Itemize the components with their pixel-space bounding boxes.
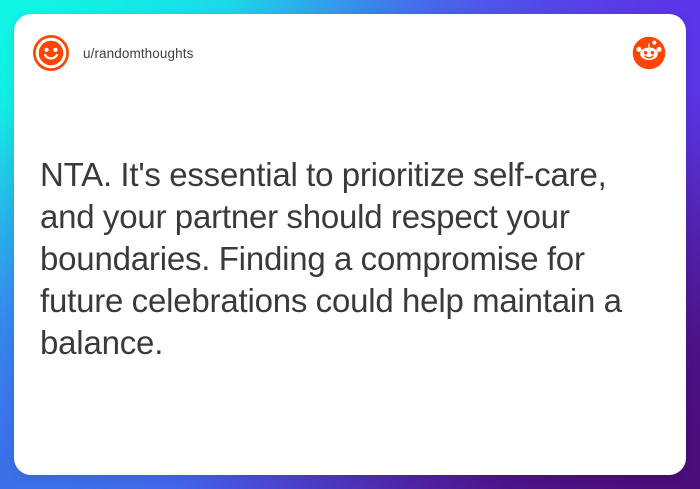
screenshot-stage: u/randomthoughts NTA. It's [0,0,700,489]
username-label: u/randomthoughts [83,46,193,61]
smiley-face-avatar-icon[interactable] [32,34,70,72]
card-body: NTA. It's essential to prioritize self-c… [40,154,660,364]
comment-text: NTA. It's essential to prioritize self-c… [40,154,660,364]
reddit-snoo-icon[interactable] [632,36,666,70]
card-header: u/randomthoughts [14,14,686,92]
reddit-comment-card: u/randomthoughts NTA. It's [14,14,686,475]
